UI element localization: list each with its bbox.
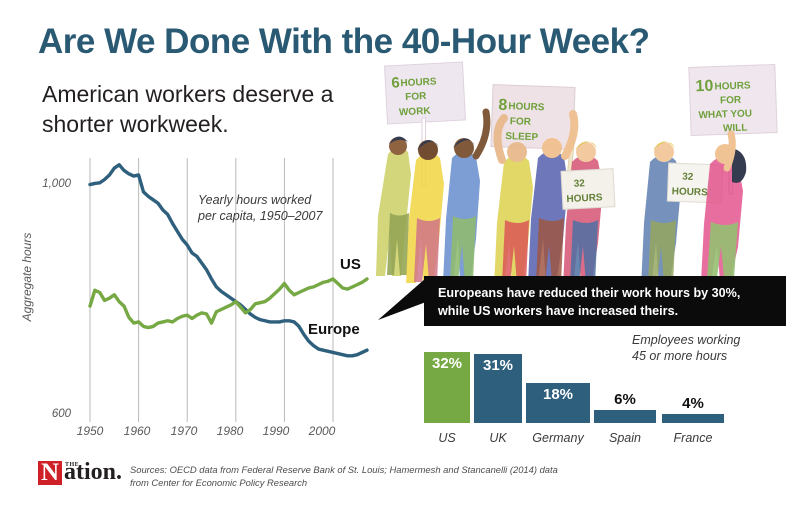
bar-france <box>662 414 724 423</box>
svg-text:SLEEP: SLEEP <box>505 131 538 143</box>
bar-column-us: 32% <box>424 350 470 423</box>
protest-illustration: 6 HOURS FOR WORK 8 HOURS FOR SLEEP 10 HO… <box>372 58 804 283</box>
svg-text:HOURS: HOURS <box>400 76 437 89</box>
bar-column-france: 4% <box>662 412 724 423</box>
callout-line-2: while US workers have increased theirs. <box>438 302 778 320</box>
marcher-2 <box>406 140 444 283</box>
page-subtitle: American workers deserve a shorter workw… <box>42 80 372 140</box>
callout-line-1: Europeans have reduced their work hours … <box>438 284 778 302</box>
callout-text: Europeans have reduced their work hours … <box>438 284 778 321</box>
bar-spain <box>594 410 656 423</box>
svg-text:6: 6 <box>391 74 400 91</box>
svg-text:WORK: WORK <box>399 106 432 119</box>
svg-text:HOURS: HOURS <box>714 80 751 92</box>
protest-illustration-svg: 6 HOURS FOR WORK 8 HOURS FOR SLEEP 10 HO… <box>372 58 804 283</box>
x-tick-1980: 1980 <box>207 424 253 438</box>
bar-label-france: France <box>662 431 724 445</box>
bar-chart: Employees working 45 or more hours 32%US… <box>424 330 796 445</box>
bar-column-uk: 31% <box>474 352 522 423</box>
svg-text:32: 32 <box>682 172 694 183</box>
line-chart-note-line2: per capita, 1950–2007 <box>198 208 322 224</box>
svg-text:FOR: FOR <box>720 95 742 107</box>
svg-text:32: 32 <box>573 178 585 190</box>
marcher-3 <box>443 112 487 283</box>
svg-text:FOR: FOR <box>510 116 532 128</box>
svg-text:10: 10 <box>695 78 713 96</box>
bar-label-uk: UK <box>474 431 522 445</box>
logo-letter-n: N <box>41 460 59 485</box>
infographic-root: Are We Done With the 40-Hour Week? Ameri… <box>0 0 810 510</box>
svg-text:WHAT YOU: WHAT YOU <box>698 108 752 121</box>
y-axis-title: Aggregate hours <box>20 222 34 332</box>
x-tick-1960: 1960 <box>114 424 160 438</box>
y-tick-600: 600 <box>16 408 71 420</box>
bar-column-germany: 18% <box>526 381 590 423</box>
bar-value-france: 4% <box>662 395 724 412</box>
sources-text: Sources: OECD data from Federal Reserve … <box>130 463 560 490</box>
x-tick-1950: 1950 <box>67 424 113 438</box>
svg-text:HOURS: HOURS <box>566 192 603 205</box>
marcher-8 <box>701 134 746 282</box>
bar-chart-note-line1: Employees working <box>632 332 792 348</box>
bar-column-spain: 6% <box>594 408 656 423</box>
x-tick-2000: 2000 <box>299 424 345 438</box>
bar-value-germany: 18% <box>526 386 590 403</box>
bar-label-spain: Spain <box>594 431 656 445</box>
x-tick-1970: 1970 <box>161 424 207 438</box>
sources-line-1: Sources: OECD data from Federal Reserve … <box>130 463 560 476</box>
svg-text:HOURS: HOURS <box>671 186 708 198</box>
line-chart-note-line1: Yearly hours worked <box>198 192 322 208</box>
svg-text:8: 8 <box>498 97 508 114</box>
series-label-us: US <box>340 256 361 273</box>
marcher-1 <box>376 136 411 276</box>
y-tick-1000: 1,000 <box>16 178 71 190</box>
series-label-europe: Europe <box>308 321 360 338</box>
bar-value-spain: 6% <box>594 391 656 408</box>
svg-text:WILL: WILL <box>723 123 748 135</box>
callout-pointer-icon <box>378 276 426 326</box>
svg-text:FOR: FOR <box>405 91 427 103</box>
bar-label-germany: Germany <box>526 431 590 445</box>
line-chart-note: Yearly hours worked per capita, 1950–200… <box>198 192 322 225</box>
bar-label-us: US <box>424 431 470 445</box>
bar-value-us: 32% <box>424 355 470 372</box>
x-tick-1990: 1990 <box>253 424 299 438</box>
callout-box: Europeans have reduced their work hours … <box>424 276 786 326</box>
logo-ation: ation. <box>64 460 122 485</box>
svg-text:HOURS: HOURS <box>508 101 545 113</box>
bar-chart-note-line2: 45 or more hours <box>632 348 792 364</box>
bar-chart-note: Employees working 45 or more hours <box>632 332 792 365</box>
sources-line-2: from Center for Economic Policy Research <box>130 476 560 489</box>
page-title: Are We Done With the 40-Hour Week? <box>38 22 649 62</box>
bar-value-uk: 31% <box>474 357 522 374</box>
